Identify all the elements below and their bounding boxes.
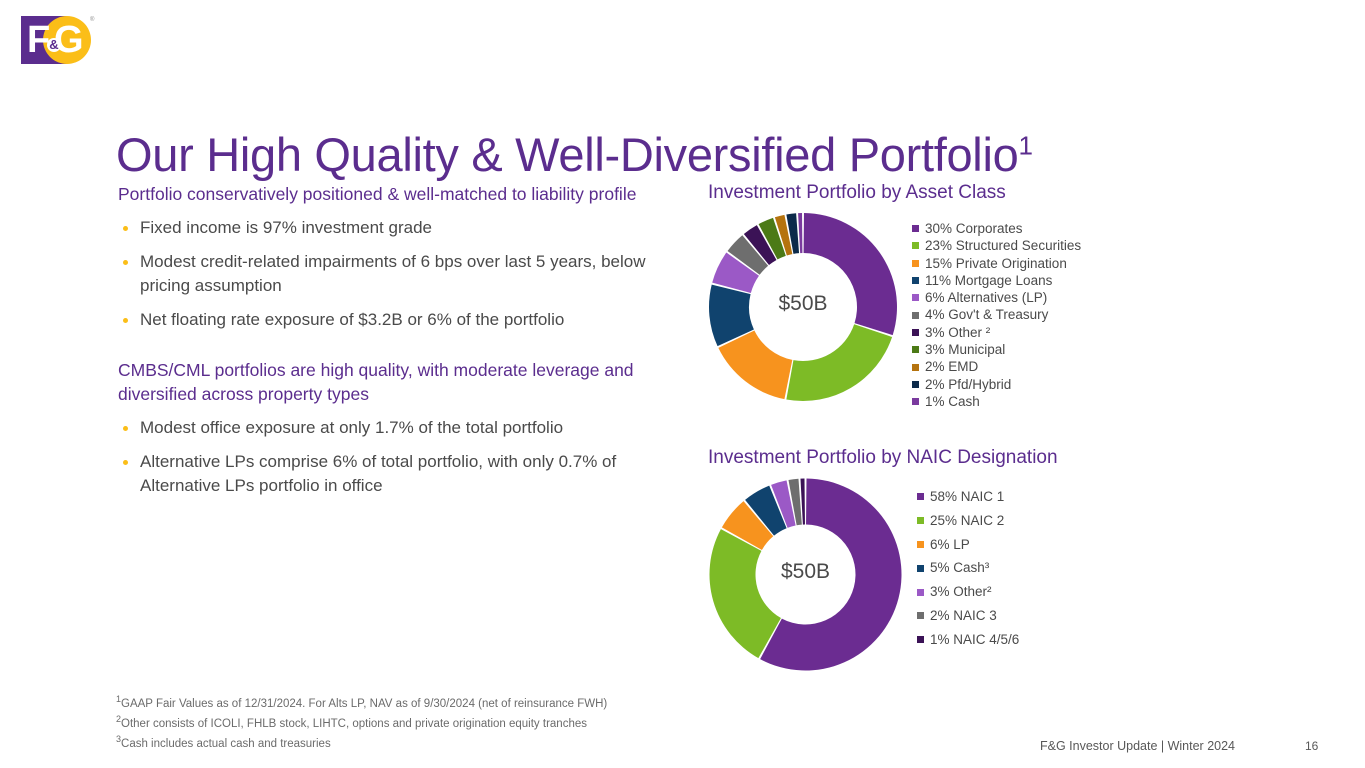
list-item: Alternative LPs comprise 6% of total por… <box>118 450 658 498</box>
legend-item: 6% LP <box>917 533 1019 557</box>
donut-chart-asset-class: $50B <box>708 212 898 407</box>
legend-swatch-icon <box>917 541 924 548</box>
footnote-2: 2Other consists of ICOLI, FHLB stock, LI… <box>116 712 607 732</box>
donut-center-label-naic: $50B <box>708 560 903 584</box>
legend-label: 11% Mortgage Loans <box>925 272 1052 289</box>
legend-item: 6% Alternatives (LP) <box>912 289 1081 306</box>
legend-label: 4% Gov't & Treasury <box>925 306 1048 323</box>
legend-item: 5% Cash³ <box>917 556 1019 580</box>
donut-slice <box>710 529 781 658</box>
legend-swatch-icon <box>917 636 924 643</box>
legend-label: 2% EMD <box>925 358 978 375</box>
bullet-list-cmbs: Modest office exposure at only 1.7% of t… <box>118 416 658 498</box>
legend-item: 25% NAIC 2 <box>917 509 1019 533</box>
legend-swatch-icon <box>912 242 919 249</box>
legend-item: 23% Structured Securities <box>912 237 1081 254</box>
list-item: Modest credit-related impairments of 6 b… <box>118 250 658 298</box>
legend-label: 2% Pfd/Hybrid <box>925 376 1011 393</box>
footnote-1: 1GAAP Fair Values as of 12/31/2024. For … <box>116 692 607 712</box>
list-item: Fixed income is 97% investment grade <box>118 216 658 240</box>
legend-label: 6% LP <box>930 533 970 557</box>
legend-label: 3% Municipal <box>925 341 1005 358</box>
legend-swatch-icon <box>917 493 924 500</box>
fg-logo: F G & ® <box>21 16 91 64</box>
legend-swatch-icon <box>912 346 919 353</box>
chart-asset-class: Investment Portfolio by Asset Class $50B… <box>708 182 1081 410</box>
list-item: Net floating rate exposure of $3.2B or 6… <box>118 308 658 332</box>
donut-slice <box>786 324 892 401</box>
footnote-text-1: GAAP Fair Values as of 12/31/2024. For A… <box>121 698 607 710</box>
legend-item: 4% Gov't & Treasury <box>912 306 1081 323</box>
chart-naic: Investment Portfolio by NAIC Designation… <box>708 447 1058 677</box>
legend-item: 58% NAIC 1 <box>917 485 1019 509</box>
page-title: Our High Quality & Well-Diversified Port… <box>116 127 1033 182</box>
footnotes: 1GAAP Fair Values as of 12/31/2024. For … <box>116 692 607 752</box>
legend-label: 30% Corporates <box>925 220 1023 237</box>
legend-swatch-icon <box>912 364 919 371</box>
donut-slice <box>804 213 897 335</box>
legend-label: 58% NAIC 1 <box>930 485 1004 509</box>
legend-item: 2% EMD <box>912 358 1081 375</box>
legend-naic: 58% NAIC 125% NAIC 26% LP5% Cash³3% Othe… <box>917 477 1019 652</box>
list-item: Modest office exposure at only 1.7% of t… <box>118 416 658 440</box>
legend-item: 1% NAIC 4/5/6 <box>917 628 1019 652</box>
bullet-list-portfolio: Fixed income is 97% investment grade Mod… <box>118 216 658 332</box>
page-title-text: Our High Quality & Well-Diversified Port… <box>116 128 1018 181</box>
page-number: 16 <box>1305 739 1318 753</box>
footer-deck-label: F&G Investor Update | Winter 2024 <box>1040 739 1235 753</box>
logo-ampersand: & <box>47 38 61 52</box>
legend-swatch-icon <box>912 312 919 319</box>
legend-item: 1% Cash <box>912 393 1081 410</box>
legend-item: 2% NAIC 3 <box>917 604 1019 628</box>
legend-swatch-icon <box>912 277 919 284</box>
donut-center-label-asset-class: $50B <box>708 292 898 316</box>
chart-title-naic: Investment Portfolio by NAIC Designation <box>708 447 1058 469</box>
legend-label: 3% Other ² <box>925 324 990 341</box>
legend-item: 3% Other² <box>917 580 1019 604</box>
legend-swatch-icon <box>917 612 924 619</box>
legend-item: 11% Mortgage Loans <box>912 272 1081 289</box>
legend-swatch-icon <box>912 260 919 267</box>
legend-swatch-icon <box>917 565 924 572</box>
legend-swatch-icon <box>912 398 919 405</box>
donut-slice <box>718 331 792 400</box>
legend-swatch-icon <box>917 517 924 524</box>
section-heading-cmbs: CMBS/CML portfolios are high quality, wi… <box>118 358 658 406</box>
legend-label: 5% Cash³ <box>930 556 989 580</box>
registered-mark-icon: ® <box>90 17 94 23</box>
legend-label: 1% Cash <box>925 393 980 410</box>
legend-asset-class: 30% Corporates23% Structured Securities1… <box>912 212 1081 410</box>
section-heading-portfolio: Portfolio conservatively positioned & we… <box>118 182 658 206</box>
footnote-text-3: Cash includes actual cash and treasuries <box>121 738 331 750</box>
legend-swatch-icon <box>912 225 919 232</box>
donut-slice <box>798 213 802 253</box>
footnote-text-2: Other consists of ICOLI, FHLB stock, LIH… <box>121 718 587 730</box>
legend-swatch-icon <box>912 329 919 336</box>
footnote-3: 3Cash includes actual cash and treasurie… <box>116 732 607 752</box>
legend-item: 30% Corporates <box>912 220 1081 237</box>
legend-item: 15% Private Origination <box>912 255 1081 272</box>
legend-label: 1% NAIC 4/5/6 <box>930 628 1019 652</box>
legend-item: 3% Municipal <box>912 341 1081 358</box>
legend-label: 23% Structured Securities <box>925 237 1081 254</box>
legend-item: 2% Pfd/Hybrid <box>912 376 1081 393</box>
donut-chart-naic: $50B <box>708 477 903 677</box>
legend-label: 2% NAIC 3 <box>930 604 997 628</box>
legend-label: 15% Private Origination <box>925 255 1067 272</box>
left-content-column: Portfolio conservatively positioned & we… <box>118 182 658 508</box>
legend-item: 3% Other ² <box>912 324 1081 341</box>
legend-swatch-icon <box>912 381 919 388</box>
chart-title-asset-class: Investment Portfolio by Asset Class <box>708 182 1081 204</box>
page-title-footnote-marker: 1 <box>1018 131 1032 161</box>
legend-swatch-icon <box>917 589 924 596</box>
legend-swatch-icon <box>912 294 919 301</box>
legend-label: 6% Alternatives (LP) <box>925 289 1047 306</box>
legend-label: 3% Other² <box>930 580 992 604</box>
logo-letter-f: F <box>27 20 49 60</box>
legend-label: 25% NAIC 2 <box>930 509 1004 533</box>
